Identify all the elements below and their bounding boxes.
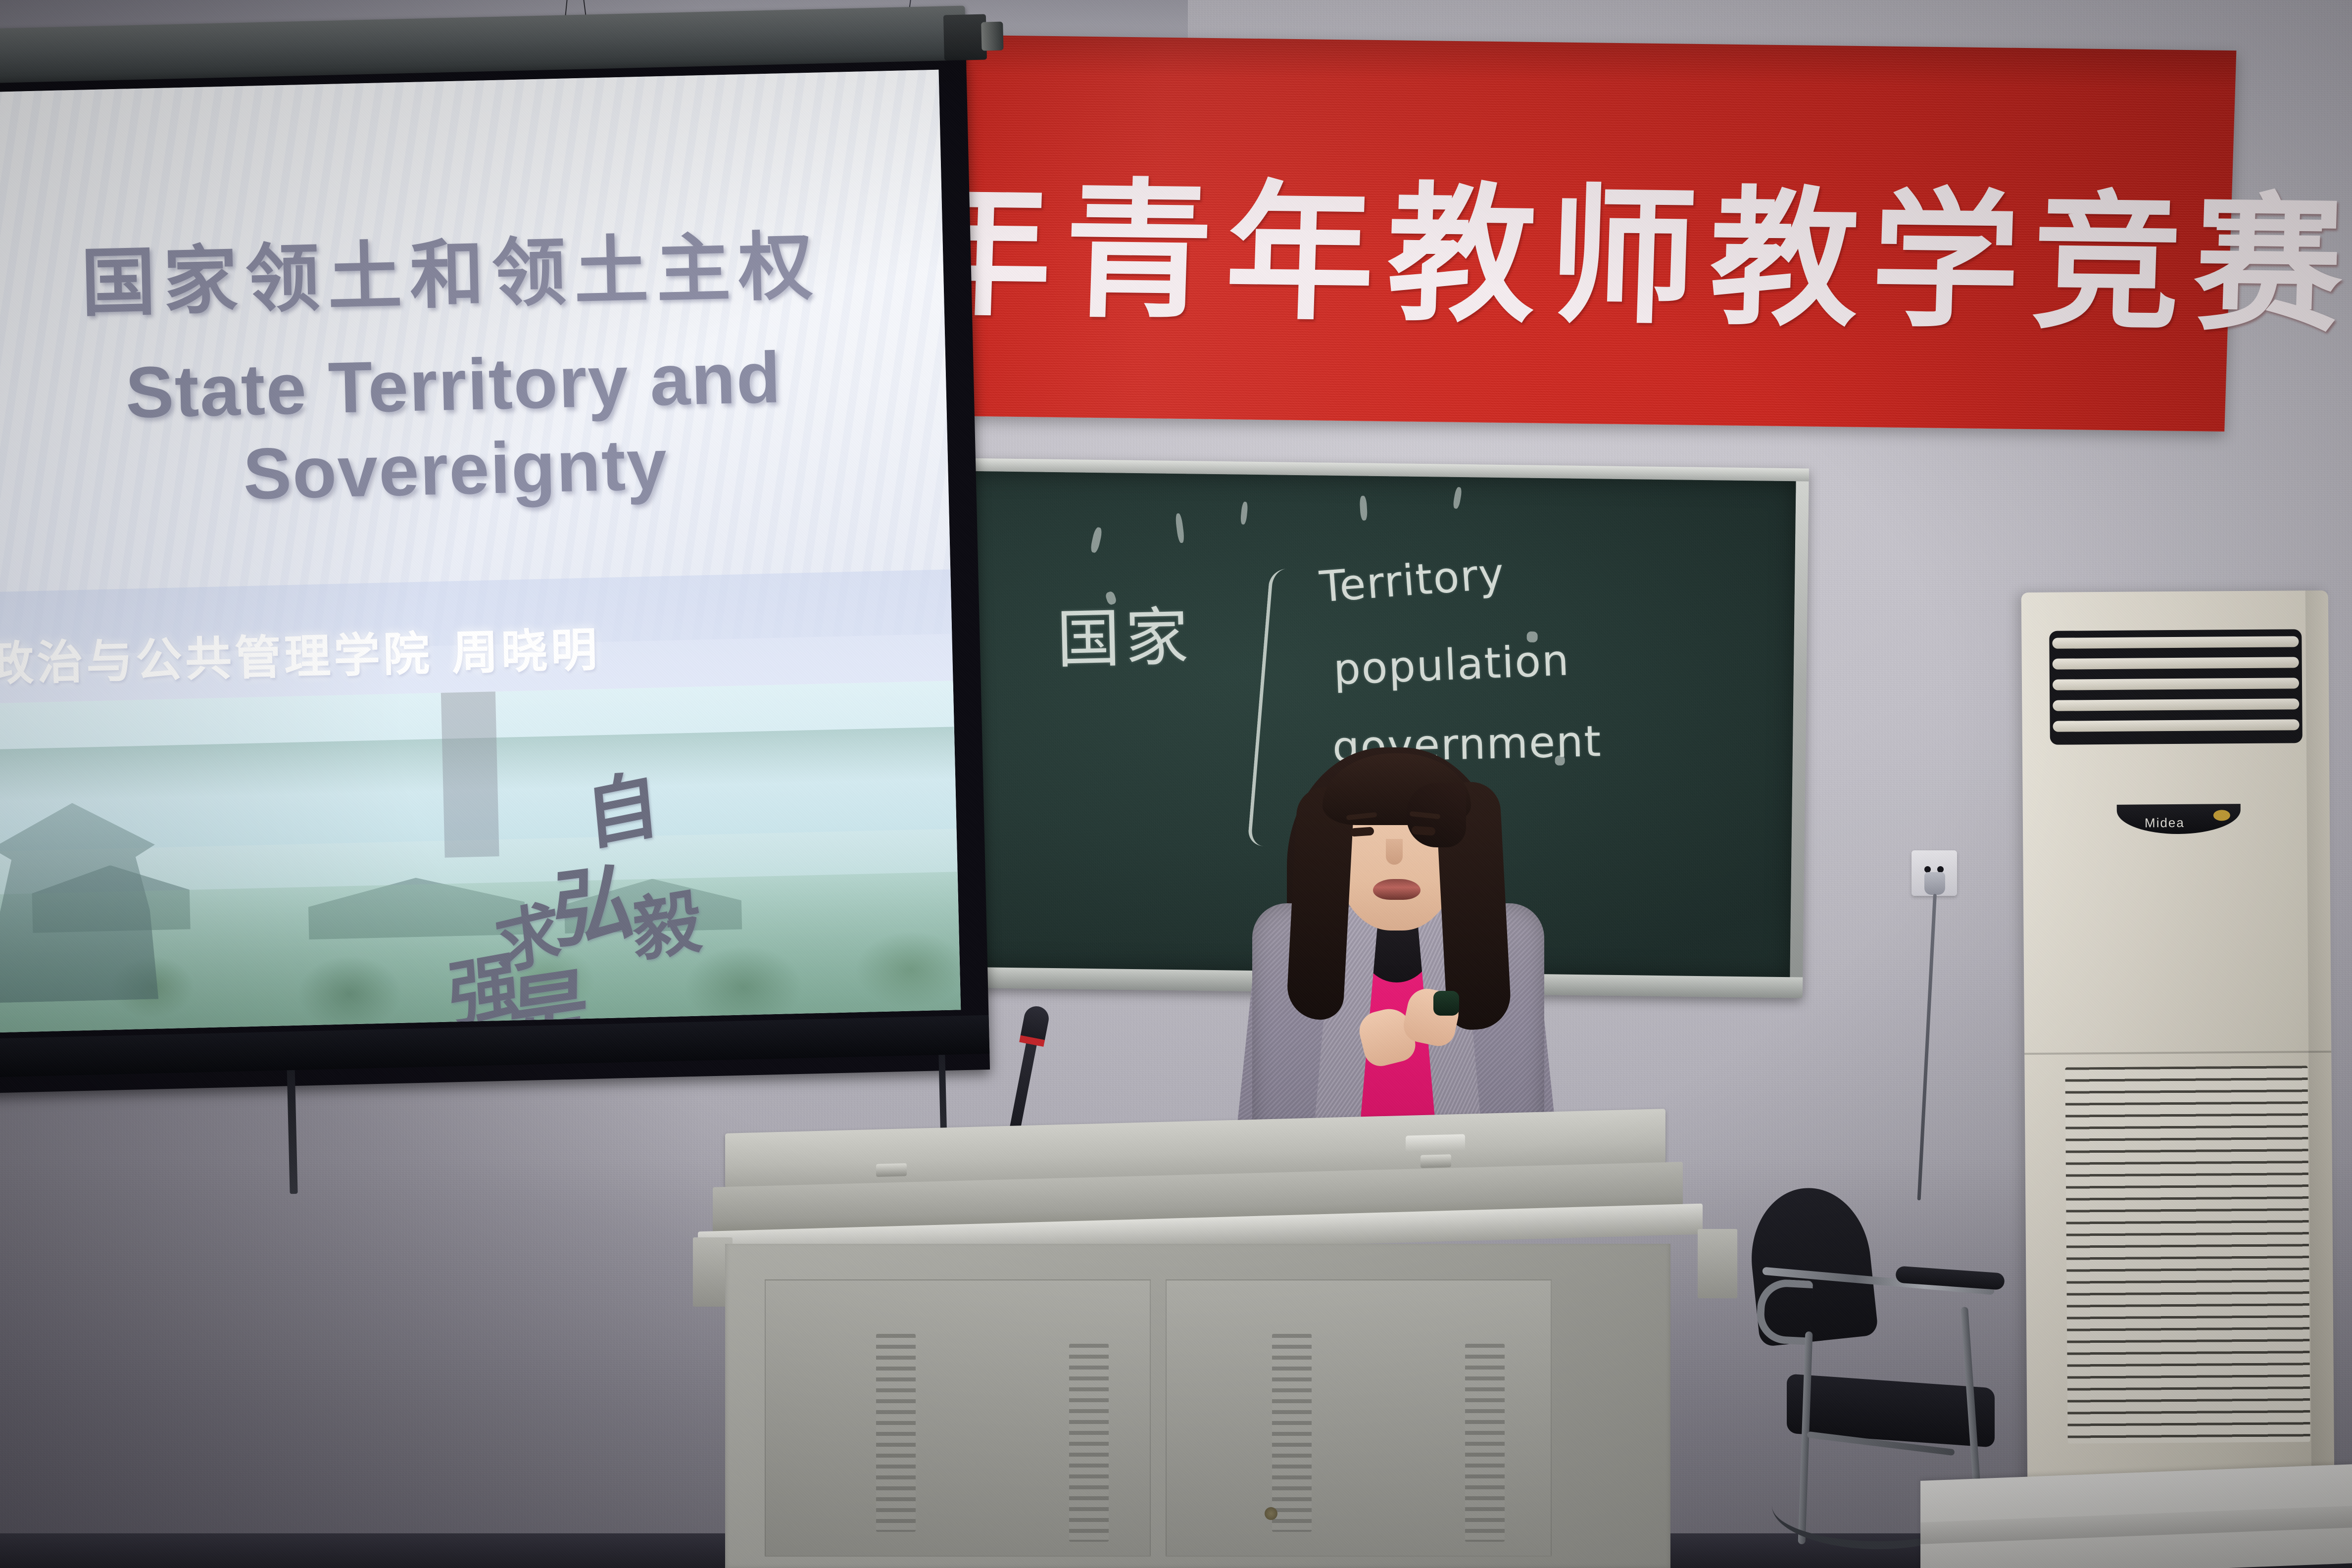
ac-louver xyxy=(2053,657,2299,669)
side-table-edge xyxy=(1920,1506,2352,1544)
lectern-vent xyxy=(876,1334,916,1532)
ac-louver xyxy=(2053,678,2299,690)
ac-louver xyxy=(2053,698,2299,711)
ac-louver xyxy=(2052,636,2299,648)
ac-top-air-vent xyxy=(2049,629,2303,745)
red-competition-banner: 年青年教师教学竞赛 xyxy=(917,5,2237,441)
lectern-hinge xyxy=(1421,1154,1451,1168)
eye-left xyxy=(1350,827,1374,836)
ac-logo-badge xyxy=(2213,810,2230,821)
mouth xyxy=(1373,879,1421,900)
outlet-plug[interactable] xyxy=(1924,872,1945,895)
photo-tower xyxy=(441,685,499,857)
lectern-right-shoulder xyxy=(1698,1229,1737,1298)
lectern-vent xyxy=(1069,1344,1109,1542)
slide-surface: 国家领土和领土主权 State Territory and Sovereignt… xyxy=(0,70,961,1033)
lectern-lock[interactable] xyxy=(1265,1507,1277,1520)
ac-bottom-intake-grille xyxy=(2065,1066,2310,1443)
presentation-clicker[interactable] xyxy=(1433,991,1459,1016)
white-side-table xyxy=(1920,1464,2352,1568)
wall-power-outlet[interactable] xyxy=(1911,850,1957,896)
banner-text: 年青年教师教学竞赛 xyxy=(900,128,2046,357)
lectern-hinge xyxy=(876,1163,907,1177)
eye-right xyxy=(1411,826,1435,835)
screen-roller-end-cap xyxy=(943,14,987,60)
ac-louver xyxy=(2053,719,2300,732)
lectern-vent xyxy=(1465,1344,1505,1542)
chalkboard-item-population: population xyxy=(1332,636,1570,694)
pull-down-projection-screen: 国家领土和领土主权 State Territory and Sovereignt… xyxy=(0,5,990,1093)
classroom-photo-scene: 年青年教师教学竞赛 国家 Territory population govern… xyxy=(0,0,2352,1568)
ac-brand-label: Midea xyxy=(2145,815,2185,831)
nose xyxy=(1386,839,1403,865)
lectern-vent xyxy=(1272,1334,1312,1532)
female-teacher xyxy=(1218,733,1574,1158)
multimedia-lectern xyxy=(678,1116,1767,1568)
lectern-lid-handle[interactable] xyxy=(1406,1134,1465,1152)
chalkboard-heading: 国家 xyxy=(1056,586,1194,680)
slide-campus-photo xyxy=(0,681,961,1033)
